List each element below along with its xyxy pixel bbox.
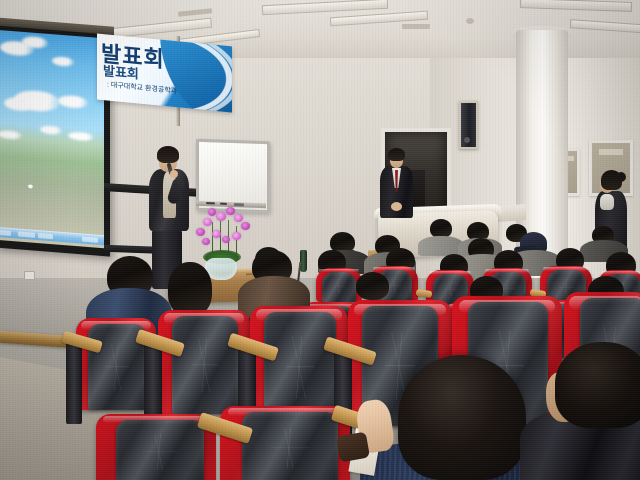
- projection-screen: [0, 30, 104, 248]
- ceiling-light-fixture: [520, 0, 632, 12]
- jacket-cuff: [336, 432, 370, 463]
- suited-man-hair: [388, 148, 405, 161]
- whiteboard-marker[interactable]: [220, 203, 227, 205]
- wall-speaker: [459, 101, 478, 149]
- presenter-hair: [157, 146, 179, 163]
- foreground-woman-hair: [398, 355, 526, 480]
- hair-bun: [616, 172, 626, 182]
- cloud: [0, 130, 22, 140]
- event-banner: 발표회 발표회 : 대구대학교 환경공학과: [97, 34, 232, 113]
- wave-swoosh-icon: [160, 34, 232, 113]
- cloud: [68, 131, 94, 141]
- cloud: [58, 95, 88, 109]
- ceiling-light-fixture: [262, 0, 388, 15]
- audience-head: [356, 272, 389, 300]
- whiteboard-marker[interactable]: [206, 202, 215, 204]
- seat-arm-post: [66, 340, 82, 424]
- ceiling-light-fixture: [570, 19, 640, 34]
- bottle: [300, 250, 307, 272]
- cursor-dot: [28, 184, 33, 188]
- taskbar-window-button[interactable]: [18, 231, 35, 237]
- wall-outlet: [24, 271, 35, 280]
- cloud: [40, 125, 62, 135]
- ceiling-smoke-detector: [466, 18, 474, 24]
- woman-blouse: [600, 194, 614, 210]
- notice-slip: [599, 149, 623, 155]
- photo-scene: 발표회 발표회 : 대구대학교 환경공학과: [0, 0, 640, 480]
- banner-organization: : 대구대학교 환경공학과: [107, 79, 177, 96]
- cloud: [52, 56, 74, 67]
- ceiling-vent: [402, 24, 430, 29]
- auditorium-seat-back: [172, 316, 238, 414]
- taskbar-window-button[interactable]: [38, 233, 53, 239]
- audience-head: [168, 262, 212, 316]
- taskbar-start-button[interactable]: [0, 230, 11, 236]
- foreground-man-hair: [555, 342, 640, 428]
- clasped-hands: [391, 202, 402, 211]
- taskbar-clock[interactable]: [82, 237, 98, 243]
- presenter-hand: [170, 170, 178, 178]
- auditorium-seat-back: [242, 412, 338, 480]
- auditorium-seat-back: [116, 420, 204, 480]
- auditorium-seat-back: [322, 272, 356, 302]
- whiteboard-eraser[interactable]: [234, 203, 244, 206]
- ceiling-vent: [178, 8, 212, 17]
